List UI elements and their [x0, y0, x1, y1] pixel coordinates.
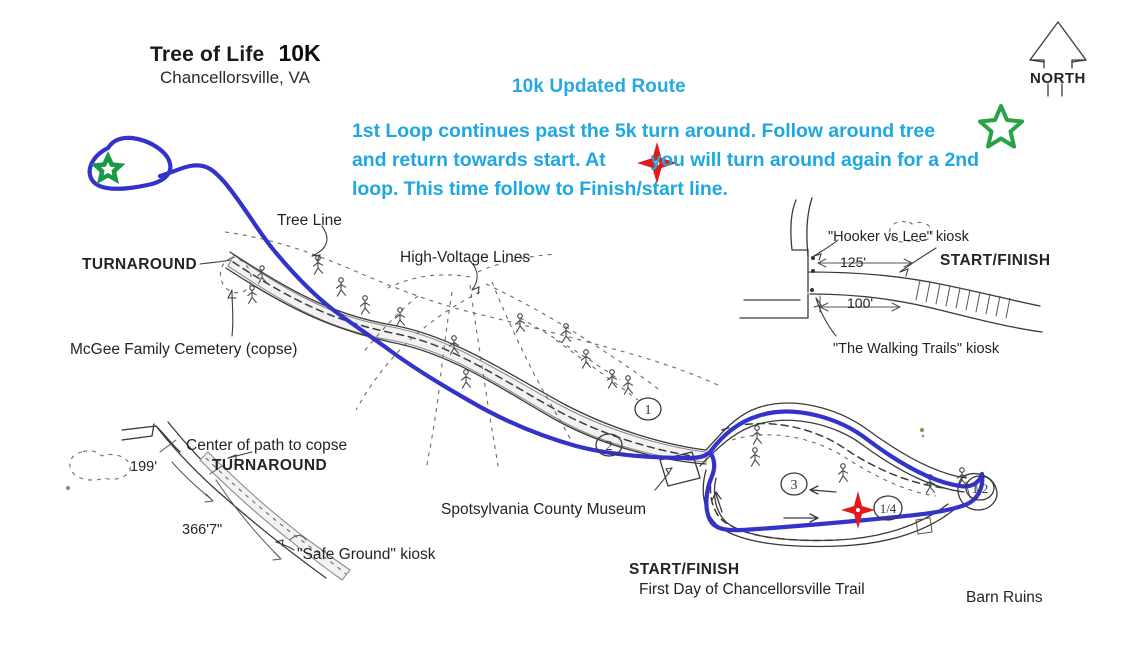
dimension-366 [210, 466, 281, 560]
mile-marker-quarter: 1/4 [874, 496, 902, 520]
route-note-line-1: 1st Loop continues past the 5k turn arou… [352, 117, 1012, 146]
label-dimension-366: 366'7" [182, 522, 222, 538]
route-note-line-3: loop. This time follow to Finish/start l… [352, 175, 1032, 204]
event-title: Tree of Life [150, 43, 264, 67]
svg-text:3: 3 [791, 478, 798, 493]
route-note-line-2: and return towards start. At you will tu… [352, 146, 1032, 175]
svg-text:2: 2 [606, 439, 613, 454]
label-hooker-kiosk: "Hooker vs Lee" kiosk [828, 229, 969, 245]
label-dimension-125: 125' [840, 254, 866, 270]
route-note-line-2b: you will turn around again for a 2nd [650, 149, 979, 171]
museum-building [655, 452, 700, 490]
label-walking-trails-kiosk: "The Walking Trails" kiosk [833, 341, 999, 357]
route-note-line-2a: and return towards start. At [352, 149, 606, 171]
title-block: Tree of Life10K Chancellorsville, VA [150, 40, 321, 88]
label-museum: Spotsylvania County Museum [441, 501, 646, 519]
svg-text:1/4: 1/4 [880, 501, 897, 516]
label-leaders [200, 226, 479, 336]
high-voltage-lines [356, 254, 662, 470]
runner-glyphs [248, 256, 967, 494]
label-center-of-path: Center of path to copse [186, 437, 347, 455]
direction-arrows [712, 486, 836, 522]
label-mcgee-cemetery: McGee Family Cemetery (copse) [70, 341, 297, 359]
svg-text:1/2: 1/2 [972, 481, 989, 496]
speck [922, 435, 925, 438]
north-label: NORTH [1030, 70, 1086, 87]
label-high-voltage-lines: High-Voltage Lines [400, 249, 530, 267]
label-dimension-199: 199' [130, 459, 157, 475]
green-star-filled-icon [88, 148, 128, 188]
label-tree-line: Tree Line [277, 212, 342, 230]
label-turnaround-inset: TURNAROUND [212, 457, 327, 475]
mile-marker-2: 2 [596, 434, 622, 456]
label-turnaround-main: TURNAROUND [82, 256, 197, 274]
mile-marker-1: 1 [635, 398, 661, 420]
label-start-finish-bottom: START/FINISH [629, 561, 739, 579]
mcgee-cemetery-copse [220, 257, 251, 292]
svg-text:1: 1 [645, 403, 652, 418]
mile-marker-3: 3 [781, 473, 807, 495]
label-first-day-trail: First Day of Chancellorsville Trail [639, 581, 865, 599]
mile-markers: 1 2 3 1/4 1/2 [596, 398, 994, 520]
red-star-icon-map [841, 491, 875, 529]
trail-centerline [233, 262, 706, 458]
route-note-heading: 10k Updated Route [512, 76, 686, 98]
speck [920, 428, 924, 432]
trail-corridor [226, 252, 706, 464]
mile-marker-half: 1/2 [966, 476, 994, 500]
label-dimension-100: 100' [847, 295, 873, 311]
label-start-finish-inset: START/FINISH [940, 252, 1050, 270]
label-safe-ground-kiosk: "Safe Ground" kiosk [297, 546, 436, 564]
event-location: Chancellorsville, VA [160, 68, 321, 88]
label-barn-ruins: Barn Ruins [966, 589, 1043, 607]
event-distance: 10K [278, 40, 320, 67]
route-map-page: .ink { fill:none; stroke:#3a3a3a; stroke… [0, 0, 1123, 647]
